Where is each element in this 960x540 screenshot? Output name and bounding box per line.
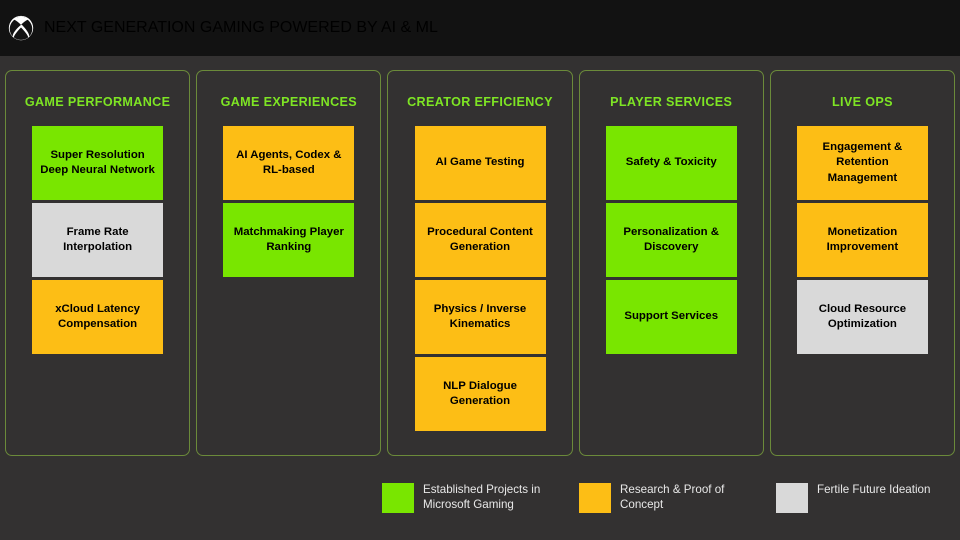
card-list: AI Agents, Codex & RL-based Matchmaking …: [204, 126, 373, 277]
legend-item-established: Established Projects in Microsoft Gaming: [382, 482, 551, 513]
card-list: AI Game Testing Procedural Content Gener…: [395, 126, 564, 431]
legend-item-fertile: Fertile Future Ideation: [776, 482, 930, 513]
legend-label: Fertile Future Ideation: [817, 482, 930, 497]
card-support-services[interactable]: Support Services: [606, 280, 737, 354]
card-safety-toxicity[interactable]: Safety & Toxicity: [606, 126, 737, 200]
legend-label: Established Projects in Microsoft Gaming: [423, 482, 551, 512]
legend: Established Projects in Microsoft Gaming…: [382, 482, 952, 522]
legend-item-research: Research & Proof of Concept: [579, 482, 748, 513]
column-game-experiences: GAME EXPERIENCES AI Agents, Codex & RL-b…: [196, 70, 381, 456]
legend-swatch-amber-icon: [579, 483, 611, 513]
column-creator-efficiency: CREATOR EFFICIENCY AI Game Testing Proce…: [387, 70, 572, 456]
column-game-performance: GAME PERFORMANCE Super Resolution Deep N…: [5, 70, 190, 456]
xbox-logo-icon: [8, 15, 34, 41]
card-list: Engagement & Retention Management Moneti…: [778, 126, 947, 354]
card-monetization-improvement[interactable]: Monetization Improvement: [797, 203, 928, 277]
category-columns: GAME PERFORMANCE Super Resolution Deep N…: [5, 70, 955, 456]
card-cloud-resource-optimization[interactable]: Cloud Resource Optimization: [797, 280, 928, 354]
card-frame-rate-interpolation[interactable]: Frame Rate Interpolation: [32, 203, 163, 277]
page-title: NEXT GENERATION GAMING POWERED BY AI & M…: [44, 19, 438, 37]
legend-label: Research & Proof of Concept: [620, 482, 748, 512]
column-title: GAME PERFORMANCE: [13, 95, 182, 109]
card-procedural-content-generation[interactable]: Procedural Content Generation: [415, 203, 546, 277]
column-live-ops: LIVE OPS Engagement & Retention Manageme…: [770, 70, 955, 456]
card-personalization-discovery[interactable]: Personalization & Discovery: [606, 203, 737, 277]
column-title: PLAYER SERVICES: [587, 95, 756, 109]
card-ai-agents-codex-rl-based[interactable]: AI Agents, Codex & RL-based: [223, 126, 354, 200]
legend-swatch-green-icon: [382, 483, 414, 513]
card-ai-game-testing[interactable]: AI Game Testing: [415, 126, 546, 200]
column-title: CREATOR EFFICIENCY: [395, 95, 564, 109]
card-matchmaking-player-ranking[interactable]: Matchmaking Player Ranking: [223, 203, 354, 277]
legend-swatch-gray-icon: [776, 483, 808, 513]
card-list: Super Resolution Deep Neural Network Fra…: [13, 126, 182, 354]
column-title: LIVE OPS: [778, 95, 947, 109]
card-nlp-dialogue-generation[interactable]: NLP Dialogue Generation: [415, 357, 546, 431]
header-bar: NEXT GENERATION GAMING POWERED BY AI & M…: [0, 0, 960, 56]
column-player-services: PLAYER SERVICES Safety & Toxicity Person…: [579, 70, 764, 456]
card-xcloud-latency-compensation[interactable]: xCloud Latency Compensation: [32, 280, 163, 354]
column-title: GAME EXPERIENCES: [204, 95, 373, 109]
card-list: Safety & Toxicity Personalization & Disc…: [587, 126, 756, 354]
card-engagement-retention-management[interactable]: Engagement & Retention Management: [797, 126, 928, 200]
card-super-resolution-deep-neural-network[interactable]: Super Resolution Deep Neural Network: [32, 126, 163, 200]
card-physics-inverse-kinematics[interactable]: Physics / Inverse Kinematics: [415, 280, 546, 354]
